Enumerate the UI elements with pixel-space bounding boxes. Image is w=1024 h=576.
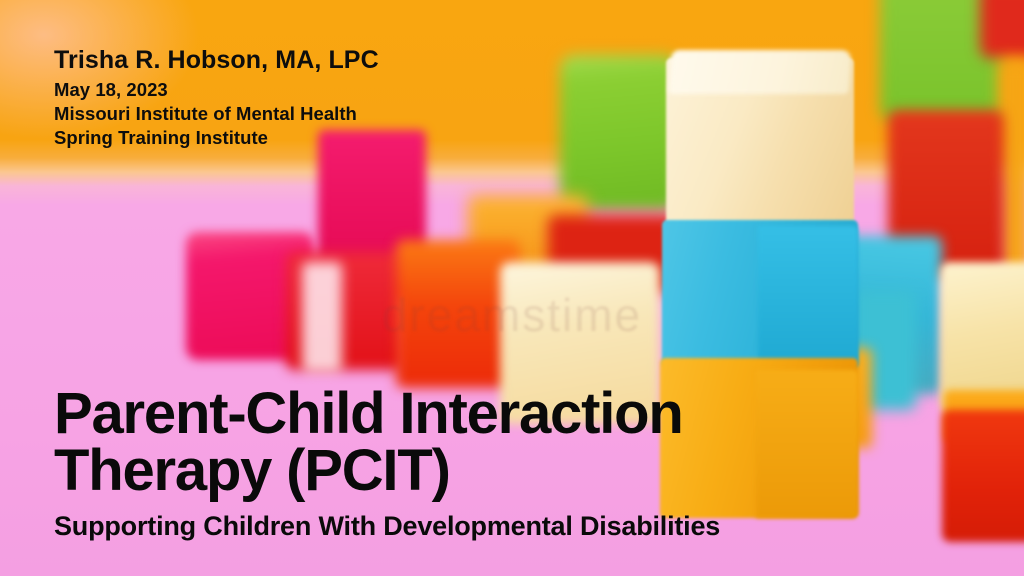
presenter-organization: Missouri Institute of Mental Health (54, 105, 379, 124)
slide-title-line-2: Therapy (PCIT) (54, 443, 720, 500)
title-block: Parent-Child Interaction Therapy (PCIT) … (54, 386, 720, 542)
presenter-info-block: Trisha R. Hobson, MA, LPC May 18, 2023 M… (54, 48, 379, 153)
presenter-name: Trisha R. Hobson, MA, LPC (54, 48, 379, 73)
presentation-title-slide: dreamstime Trisha R. Hobson, MA, LPC May… (0, 0, 1024, 576)
slide-subtitle: Supporting Children With Developmental D… (54, 511, 720, 542)
tower-block-orange-face (756, 370, 858, 518)
tower-block-cream-top-face (668, 50, 851, 94)
block-red-top-right (980, 0, 1024, 58)
block-red-bottom-right (942, 410, 1024, 542)
stock-photo-watermark: dreamstime (0, 288, 1024, 342)
slide-title-line-1: Parent-Child Interaction (54, 386, 720, 443)
presentation-event: Spring Training Institute (54, 129, 379, 148)
presentation-date: May 18, 2023 (54, 81, 379, 100)
